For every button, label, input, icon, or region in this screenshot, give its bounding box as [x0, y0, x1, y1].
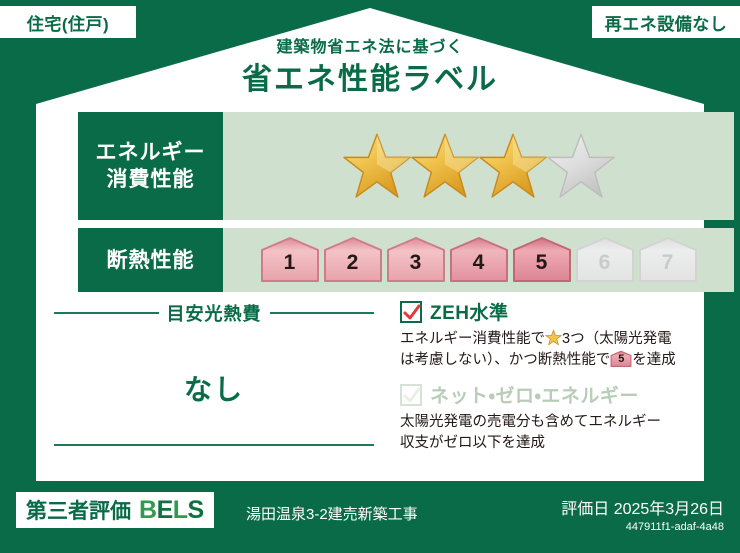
zeh-standard-desc-part3: を達成	[632, 352, 676, 368]
insulation-grade-house-1: 1	[259, 235, 321, 285]
insulation-grade-panel: 1 2 3	[223, 228, 734, 292]
insulation-grade-house-5: 5	[511, 235, 573, 285]
insulation-grade-house-3: 3	[385, 235, 447, 285]
energy-performance-label: エネルギー 消費性能	[78, 112, 223, 220]
star-icon-filled-2	[409, 130, 481, 202]
label-footer: 第三者評価 BELS 湯田温泉3-2建売新築工事 評価日 2025年3月26日 …	[0, 481, 740, 553]
evaluation-date-label: 評価日	[561, 501, 609, 518]
bels-letter-e: E	[157, 496, 173, 524]
utility-cost-rule-left	[54, 312, 159, 314]
utility-cost-title: 目安光熱費	[167, 300, 262, 326]
utility-cost-value: なし	[54, 368, 374, 408]
checkbox-checked-icon	[400, 301, 422, 323]
insulation-grade-number-4: 4	[448, 252, 510, 274]
bels-letter-l: L	[173, 496, 188, 524]
evaluation-date-block: 評価日 2025年3月26日 447911f1-adaf-4a48	[561, 495, 724, 533]
bels-logo-en-text: BELS	[139, 496, 204, 525]
energy-performance-label-line2: 消費性能	[107, 168, 195, 191]
evaluation-date-value: 2025年3月26日	[614, 501, 724, 518]
bels-logo-jp-text: 第三者評価	[26, 495, 131, 525]
star-icon-empty-4	[545, 130, 617, 202]
label-card-body: エネルギー 消費性能	[36, 104, 704, 481]
insulation-performance-label-text: 断熱性能	[107, 247, 195, 274]
zeh-standard-header: ZEH水準	[400, 298, 688, 325]
zeh-standard-desc-part2: は考慮しない）、かつ断熱性能で	[400, 352, 610, 368]
star-icon-filled-1	[341, 130, 413, 202]
star-icon-filled-3	[477, 130, 549, 202]
zeh-netzero-desc-line1: 太陽光発電の売電分も含めてエネルギー	[400, 414, 661, 430]
page-title: 省エネ性能ラベル	[0, 60, 740, 100]
energy-performance-row: エネルギー 消費性能	[78, 112, 734, 220]
insulation-performance-label: 断熱性能	[78, 228, 223, 292]
insulation-grade-number-1: 1	[259, 252, 321, 274]
zeh-standard-description: エネルギー消費性能で3つ（太陽光発電 は考慮しない）、かつ断熱性能で5を達成	[400, 329, 688, 371]
bels-logo: 第三者評価 BELS	[16, 492, 214, 528]
badge-building-type: 住宅(住戸)	[0, 6, 136, 38]
insulation-grade-house-2: 2	[322, 235, 384, 285]
energy-star-panel	[223, 112, 734, 220]
evaluation-date-line: 評価日 2025年3月26日	[561, 495, 724, 519]
checkbox-unchecked-icon	[400, 384, 422, 406]
bels-energy-label: 住宅(住戸) 再エネ設備なし 建築物省エネ法に基づく 省エネ性能ラベル エネルギ…	[0, 0, 740, 553]
label-subtitle: 建築物省エネ法に基づく	[0, 38, 740, 58]
zeh-standard-block: ZEH水準 エネルギー消費性能で3つ（太陽光発電 は考慮しない）、かつ断熱性能で…	[400, 298, 688, 371]
utility-cost-rule-right	[270, 312, 375, 314]
bels-letter-s: S	[188, 496, 204, 524]
insulation-grade-house-4: 4	[448, 235, 510, 285]
insulation-grade-house-6: 6	[574, 235, 636, 285]
label-title-block: 建築物省エネ法に基づく 省エネ性能ラベル	[0, 38, 740, 100]
zeh-netzero-block: ネット・ゼロ・エネルギー 太陽光発電の売電分も含めてエネルギー 収支がゼロ以下を…	[400, 381, 688, 454]
insulation-grade-house-inline-number: 5	[610, 354, 632, 365]
utility-cost-rule-bottom	[54, 444, 374, 446]
utility-cost-section: 目安光熱費 なし	[36, 294, 392, 480]
utility-cost-header: 目安光熱費	[54, 300, 374, 326]
badge-building-type-label: 住宅(住戸)	[27, 10, 109, 35]
star-icon-inline	[545, 329, 562, 346]
zeh-netzero-description: 太陽光発電の売電分も含めてエネルギー 収支がゼロ以下を達成	[400, 412, 688, 454]
insulation-grade-house-inline: 5	[610, 350, 632, 368]
label-bottom-columns: 目安光熱費 なし ZEH水準	[36, 294, 704, 480]
insulation-grade-number-6: 6	[574, 252, 636, 274]
insulation-grade-number-3: 3	[385, 252, 447, 274]
zeh-netzero-title: ネット・ゼロ・エネルギー	[430, 381, 639, 408]
zeh-netzero-header: ネット・ゼロ・エネルギー	[400, 381, 688, 408]
insulation-performance-row: 断熱性能 1	[78, 228, 734, 292]
project-name: 湯田温泉3-2建売新築工事	[246, 503, 418, 524]
bels-letter-b: B	[139, 496, 157, 524]
energy-performance-label-line1: エネルギー	[96, 141, 206, 164]
document-id: 447911f1-adaf-4a48	[561, 521, 724, 533]
zeh-standard-desc-part1: エネルギー消費性能で	[400, 331, 545, 347]
insulation-grade-house-7: 7	[637, 235, 699, 285]
zeh-netzero-desc-line2: 収支がゼロ以下を達成	[400, 435, 545, 451]
zeh-standard-desc-stars: 3つ（太陽光発電	[562, 331, 672, 347]
insulation-grade-number-2: 2	[322, 252, 384, 274]
insulation-grade-number-7: 7	[637, 252, 699, 274]
zeh-standard-title: ZEH水準	[430, 298, 509, 325]
badge-renewable-energy: 再エネ設備なし	[592, 6, 740, 38]
zeh-section: ZEH水準 エネルギー消費性能で3つ（太陽光発電 は考慮しない）、かつ断熱性能で…	[392, 294, 704, 480]
badge-renewable-energy-label: 再エネ設備なし	[605, 10, 728, 35]
insulation-grade-number-5: 5	[511, 252, 573, 274]
